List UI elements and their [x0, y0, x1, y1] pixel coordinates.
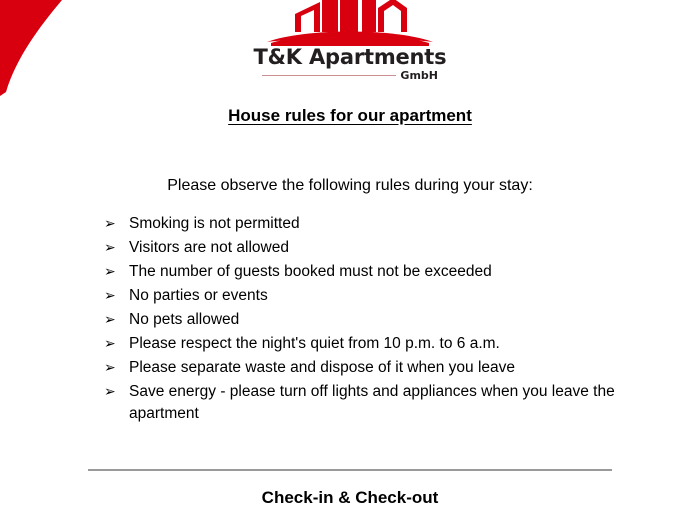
arrow-bullet-icon: ➢	[104, 261, 116, 283]
list-item-label: No pets allowed	[129, 311, 239, 328]
list-item-label: Please respect the night's quiet from 10…	[129, 335, 500, 352]
intro-text: Please observe the following rules durin…	[0, 177, 700, 195]
arrow-bullet-icon: ➢	[104, 213, 116, 235]
buildings-logo-icon	[265, 0, 435, 46]
company-name: T&K Apartments	[0, 47, 700, 68]
list-item: ➢ Visitors are not allowed	[104, 237, 644, 259]
list-item: ➢ Please respect the night's quiet from …	[104, 333, 644, 355]
list-item: ➢ No parties or events	[104, 285, 644, 307]
list-item-label: No parties or events	[129, 287, 268, 304]
list-item: ➢ No pets allowed	[104, 309, 644, 331]
arrow-bullet-icon: ➢	[104, 357, 116, 379]
brand-header: T&K Apartments GmbH	[0, 0, 700, 81]
list-item-label: The number of guests booked must not be …	[129, 263, 492, 280]
arrow-bullet-icon: ➢	[104, 381, 116, 403]
company-suffix: GmbH	[400, 70, 438, 81]
arrow-bullet-icon: ➢	[104, 309, 116, 331]
company-suffix-row: GmbH	[262, 70, 438, 81]
list-item: ➢ The number of guests booked must not b…	[104, 261, 644, 283]
arrow-bullet-icon: ➢	[104, 285, 116, 307]
list-item-label: Visitors are not allowed	[129, 239, 289, 256]
list-item: ➢ Please separate waste and dispose of i…	[104, 357, 644, 379]
page-title: House rules for our apartment	[0, 106, 700, 126]
list-item-label: Save energy - please turn off lights and…	[129, 383, 615, 422]
house-rules-list: ➢ Smoking is not permitted ➢ Visitors ar…	[104, 213, 644, 427]
footer-section-heading: Check-in & Check-out	[0, 488, 700, 508]
section-divider	[88, 469, 612, 471]
arrow-bullet-icon: ➢	[104, 237, 116, 259]
list-item: ➢ Save energy - please turn off lights a…	[104, 381, 644, 424]
list-item-label: Please separate waste and dispose of it …	[129, 359, 515, 376]
logo-underline-rule	[262, 75, 396, 76]
arrow-bullet-icon: ➢	[104, 333, 116, 355]
list-item: ➢ Smoking is not permitted	[104, 213, 644, 235]
list-item-label: Smoking is not permitted	[129, 215, 300, 232]
